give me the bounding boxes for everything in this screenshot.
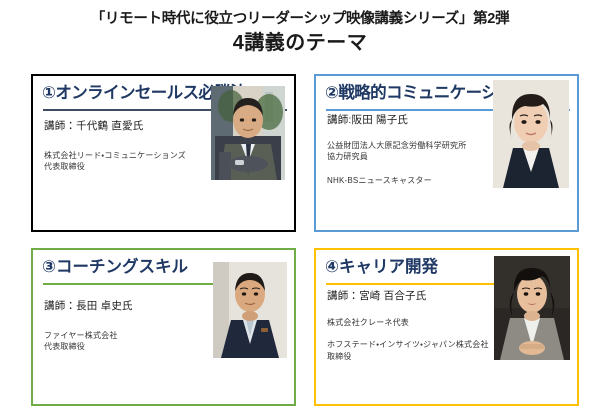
- page-header: 「リモート時代に役立つリーダーシップ映像講義シリーズ」第2弾 4講義のテーマ: [0, 0, 600, 57]
- lecture-card-2[interactable]: ②戦略的コミュニケーション 講師:阪田 陽子氏 公益財団法人大原記念労働科学研究…: [314, 74, 579, 232]
- lecture-card-3-body: 講師：長田 卓史氏 ファイヤー株式会社代表取締役: [44, 300, 208, 353]
- lecturer-portrait: [494, 256, 570, 360]
- lecturer-name: 講師：宮崎 百合子氏: [327, 290, 501, 304]
- lecture-card-2-body: 講師:阪田 陽子氏 公益財団法人大原記念労働科学研究所協力研究員 NHK-BSニ…: [327, 114, 489, 198]
- lecture-card-4[interactable]: ④キャリア開発 講師：宮崎 百合子氏 株式会社クレーネ代表 ホフステード・インサ…: [314, 248, 579, 406]
- lecture-card-4-body: 講師：宮崎 百合子氏 株式会社クレーネ代表 ホフステード・インサイツ・ジャパン株…: [327, 290, 501, 373]
- lecturer-name: 講師:阪田 陽子氏: [327, 114, 489, 128]
- lecturer-affiliation: 株式会社クレーネ代表: [327, 317, 501, 329]
- lecture-card-3[interactable]: ③コーチングスキル 講師：長田 卓史氏 ファイヤー株式会社代表取締役: [31, 248, 296, 406]
- lecturer-affiliation: 公益財団法人大原記念労働科学研究所協力研究員: [327, 140, 489, 163]
- lecturer-portrait: [211, 86, 285, 180]
- lecturer-portrait: [213, 262, 287, 358]
- lecturer-name: 講師：千代鶴 直愛氏: [44, 120, 208, 134]
- lecture-card-1-body: 講師：千代鶴 直愛氏 株式会社リード・コミュニケーションズ代表取締役: [44, 120, 208, 173]
- lecture-card-grid: ①オンラインセールス必勝法 講師：千代鶴 直愛氏 株式会社リード・コミュニケーシ…: [31, 74, 579, 406]
- lecturer-affiliation-secondary: NHK-BSニュースキャスター: [327, 175, 489, 187]
- lecturer-portrait: [493, 80, 569, 188]
- page-title: 4講義のテーマ: [0, 29, 600, 57]
- series-subtitle: 「リモート時代に役立つリーダーシップ映像講義シリーズ」第2弾: [0, 10, 600, 28]
- lecture-card-1[interactable]: ①オンラインセールス必勝法 講師：千代鶴 直愛氏 株式会社リード・コミュニケーシ…: [31, 74, 296, 232]
- lecturer-name: 講師：長田 卓史氏: [44, 300, 208, 314]
- lecturer-affiliation-secondary: ホフステード・インサイツ・ジャパン株式会社取締役: [327, 339, 501, 362]
- lecturer-affiliation: ファイヤー株式会社代表取締役: [44, 330, 208, 353]
- lecturer-affiliation: 株式会社リード・コミュニケーションズ代表取締役: [44, 150, 208, 173]
